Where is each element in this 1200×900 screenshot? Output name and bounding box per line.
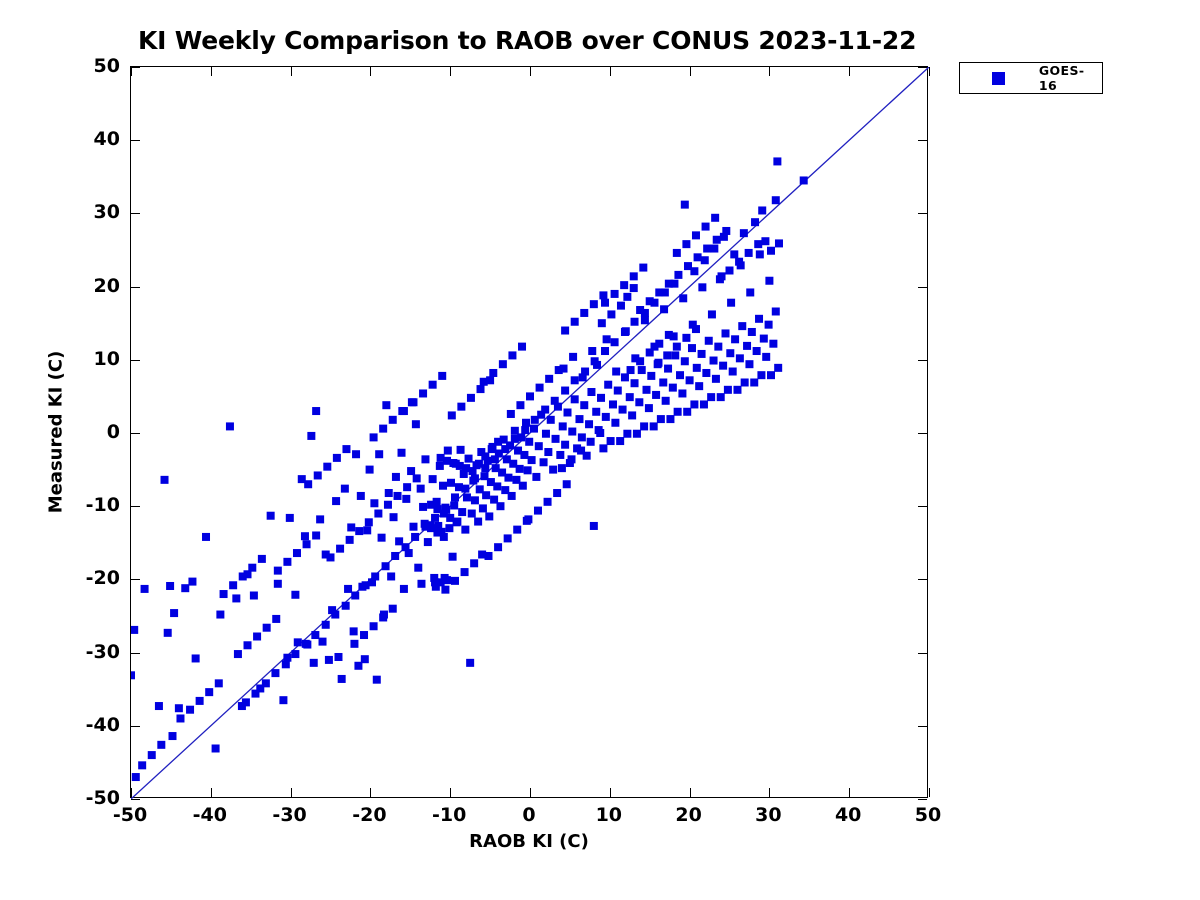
data-point <box>491 455 499 463</box>
data-point <box>441 586 449 594</box>
y-tick-mark <box>131 653 140 654</box>
plot-area <box>130 66 928 798</box>
data-point <box>479 504 487 512</box>
data-point <box>186 706 194 714</box>
identity-line <box>131 67 929 799</box>
data-point <box>373 676 381 684</box>
page-title: KI Weekly Comparison to RAOB over CONUS … <box>138 26 916 55</box>
data-point <box>695 382 703 390</box>
data-point <box>561 441 569 449</box>
data-point <box>450 501 458 509</box>
data-point <box>623 430 631 438</box>
x-axis-title: RAOB KI (C) <box>469 831 589 852</box>
data-point <box>703 245 711 253</box>
data-point <box>536 384 544 392</box>
data-point <box>413 474 421 482</box>
data-point <box>555 366 563 374</box>
data-point <box>662 397 670 405</box>
data-point <box>387 572 395 580</box>
data-point <box>714 343 722 351</box>
data-point <box>741 378 749 386</box>
data-point <box>541 406 549 414</box>
data-point <box>588 347 596 355</box>
data-point <box>307 432 315 440</box>
data-point <box>419 389 427 397</box>
data-point <box>702 223 710 231</box>
data-point <box>424 538 432 546</box>
data-point <box>175 704 183 712</box>
data-point <box>312 407 320 415</box>
data-point <box>660 305 668 313</box>
data-point <box>684 262 692 270</box>
data-point <box>518 343 526 351</box>
data-point <box>755 315 763 323</box>
data-point <box>291 591 299 599</box>
data-point <box>508 492 516 500</box>
data-point <box>226 422 234 430</box>
data-point <box>458 508 466 516</box>
data-point <box>409 523 417 531</box>
data-point <box>612 368 620 376</box>
data-point <box>767 371 775 379</box>
data-point <box>438 372 446 380</box>
data-point <box>633 430 641 438</box>
legend: GOES-16 <box>959 62 1103 94</box>
data-point <box>474 518 482 526</box>
data-point <box>301 532 309 540</box>
data-point <box>626 393 634 401</box>
data-point <box>333 454 341 462</box>
data-point <box>262 679 270 687</box>
data-point <box>419 503 427 511</box>
data-point <box>735 258 743 266</box>
y-tick-mark <box>131 506 140 507</box>
data-point <box>528 456 536 464</box>
data-point <box>242 698 250 706</box>
data-point <box>258 555 266 563</box>
data-point <box>740 229 748 237</box>
y-tick-label: -10 <box>62 494 120 516</box>
data-point <box>726 267 734 275</box>
data-point <box>604 381 612 389</box>
data-point <box>631 379 639 387</box>
data-point <box>590 522 598 530</box>
y-tick-label: 30 <box>62 201 120 223</box>
x-tick-label: 20 <box>675 804 701 826</box>
data-point <box>577 447 585 455</box>
data-point <box>496 502 504 510</box>
data-point <box>229 581 237 589</box>
data-point <box>279 696 287 704</box>
data-point <box>248 564 256 572</box>
data-point <box>645 404 653 412</box>
data-point <box>440 533 448 541</box>
data-point <box>520 451 528 459</box>
data-point <box>713 236 721 244</box>
data-point <box>596 429 604 437</box>
data-point <box>493 482 501 490</box>
data-point <box>552 435 560 443</box>
data-point <box>443 576 451 584</box>
data-point <box>325 656 333 664</box>
data-point <box>681 357 689 365</box>
data-point <box>769 340 777 348</box>
data-point <box>350 640 358 648</box>
data-point <box>650 422 658 430</box>
data-point <box>457 446 465 454</box>
data-point <box>673 249 681 257</box>
data-point <box>234 650 242 658</box>
data-point <box>569 353 577 361</box>
data-point <box>489 369 497 377</box>
data-point <box>772 307 780 315</box>
data-point <box>544 498 552 506</box>
data-point <box>743 342 751 350</box>
y-tick-label: 40 <box>62 128 120 150</box>
data-point <box>587 388 595 396</box>
data-point <box>665 280 673 288</box>
data-point <box>431 514 439 522</box>
data-point <box>384 501 392 509</box>
data-point <box>148 751 156 759</box>
data-point <box>698 350 706 358</box>
data-point <box>722 227 730 235</box>
x-tick-mark <box>690 67 691 76</box>
data-point <box>205 688 213 696</box>
data-point <box>363 526 371 534</box>
data-point <box>722 329 730 337</box>
data-point <box>568 455 576 463</box>
data-point <box>666 415 674 423</box>
data-point <box>525 438 533 446</box>
data-point <box>712 375 720 383</box>
data-point <box>663 351 671 359</box>
x-tick-mark <box>211 67 212 76</box>
data-point <box>283 558 291 566</box>
x-tick-mark <box>849 67 850 76</box>
y-tick-label: -20 <box>62 567 120 589</box>
data-point <box>767 247 775 255</box>
data-point <box>432 583 440 591</box>
data-point <box>617 302 625 310</box>
data-point <box>488 445 496 453</box>
data-point <box>694 253 702 261</box>
data-point <box>294 638 302 646</box>
data-point <box>636 306 644 314</box>
x-tick-label: 0 <box>522 804 535 826</box>
data-point <box>636 357 644 365</box>
data-point <box>686 376 694 384</box>
data-point <box>578 433 586 441</box>
data-point <box>471 474 479 482</box>
data-point <box>157 741 165 749</box>
data-point <box>192 654 200 662</box>
data-point <box>314 471 322 479</box>
x-tick-label: 40 <box>835 804 861 826</box>
x-tick-mark <box>610 67 611 76</box>
plot-canvas <box>131 67 929 799</box>
data-point <box>370 622 378 630</box>
data-point <box>501 445 509 453</box>
x-tick-mark <box>610 788 611 797</box>
data-point <box>166 582 174 590</box>
data-point <box>272 615 280 623</box>
data-point <box>757 371 765 379</box>
y-tick-mark <box>918 287 927 288</box>
data-point <box>705 337 713 345</box>
y-tick-mark <box>131 726 140 727</box>
data-point <box>196 697 204 705</box>
data-point <box>215 679 223 687</box>
x-tick-label: -40 <box>193 804 227 826</box>
data-point <box>702 369 710 377</box>
y-tick-mark <box>131 213 140 214</box>
data-point <box>164 629 172 637</box>
data-point <box>640 422 648 430</box>
data-point <box>370 499 378 507</box>
data-point <box>616 437 624 445</box>
data-point <box>531 416 539 424</box>
data-point <box>365 518 373 526</box>
data-point <box>647 372 655 380</box>
data-point <box>336 545 344 553</box>
data-point <box>621 373 629 381</box>
data-point <box>366 466 374 474</box>
x-tick-mark <box>849 788 850 797</box>
data-point <box>379 613 387 621</box>
data-point <box>597 394 605 402</box>
data-point <box>611 419 619 427</box>
data-point <box>544 448 552 456</box>
y-tick-mark <box>131 67 140 68</box>
data-point <box>327 553 335 561</box>
data-point <box>753 347 761 355</box>
data-point <box>611 290 619 298</box>
data-point <box>429 381 437 389</box>
data-point <box>141 585 149 593</box>
x-tick-label: -10 <box>432 804 466 826</box>
data-point <box>216 611 224 619</box>
data-point <box>494 543 502 551</box>
data-point <box>169 732 177 740</box>
x-tick-mark <box>690 788 691 797</box>
data-point <box>692 325 700 333</box>
data-point <box>453 518 461 526</box>
data-point <box>587 438 595 446</box>
data-point <box>710 245 718 253</box>
x-tick-mark <box>530 67 531 76</box>
data-point <box>601 347 609 355</box>
y-tick-mark <box>918 213 927 214</box>
data-point <box>654 360 662 368</box>
data-point <box>361 655 369 663</box>
data-point <box>468 510 476 518</box>
data-point <box>707 393 715 401</box>
data-point <box>571 376 579 384</box>
data-point <box>451 493 459 501</box>
data-point <box>504 474 512 482</box>
data-point <box>449 553 457 561</box>
data-point <box>551 397 559 405</box>
data-point <box>563 480 571 488</box>
data-point <box>478 551 486 559</box>
data-point <box>635 398 643 406</box>
data-point <box>736 354 744 362</box>
data-point <box>480 378 488 386</box>
data-point <box>389 416 397 424</box>
data-point <box>457 403 465 411</box>
data-point <box>607 437 615 445</box>
data-point <box>590 300 598 308</box>
data-point <box>402 543 410 551</box>
data-point <box>131 626 138 634</box>
data-point <box>508 351 516 359</box>
data-point <box>568 428 576 436</box>
data-point <box>751 218 759 226</box>
data-point <box>316 515 324 523</box>
data-point <box>575 415 583 423</box>
data-point <box>382 562 390 570</box>
data-point <box>436 462 444 470</box>
data-point <box>556 451 564 459</box>
data-point <box>390 513 398 521</box>
data-point <box>232 594 240 602</box>
data-point <box>719 362 727 370</box>
data-point <box>485 512 493 520</box>
data-point <box>513 526 521 534</box>
y-tick-label: -40 <box>62 714 120 736</box>
data-point <box>700 400 708 408</box>
x-tick-label: 50 <box>915 804 941 826</box>
data-point <box>202 533 210 541</box>
y-tick-mark <box>131 287 140 288</box>
data-point <box>239 572 247 580</box>
data-point <box>291 650 299 658</box>
data-point <box>511 435 519 443</box>
data-point <box>263 624 271 632</box>
x-tick-label: 10 <box>596 804 622 826</box>
data-point <box>385 489 393 497</box>
legend-label-goes16: GOES-16 <box>1039 63 1102 93</box>
data-point <box>756 250 764 258</box>
scatter-plot-figure: KI Weekly Comparison to RAOB over CONUS … <box>0 0 1200 900</box>
data-point <box>598 319 606 327</box>
data-point <box>344 585 352 593</box>
data-point <box>693 364 701 372</box>
data-point <box>630 272 638 280</box>
y-tick-label: 20 <box>62 275 120 297</box>
x-tick-mark <box>450 67 451 76</box>
x-tick-mark <box>370 67 371 76</box>
x-tick-mark <box>291 67 292 76</box>
y-tick-label: 10 <box>62 348 120 370</box>
data-point <box>571 395 579 403</box>
y-tick-label: -30 <box>62 641 120 663</box>
data-point <box>516 401 524 409</box>
x-tick-mark <box>929 67 930 76</box>
data-point <box>678 389 686 397</box>
data-point <box>674 271 682 279</box>
data-point <box>655 288 663 296</box>
data-point <box>671 351 679 359</box>
data-point <box>599 444 607 452</box>
data-point <box>526 392 534 400</box>
data-point <box>564 409 572 417</box>
data-point <box>477 385 485 393</box>
data-point <box>444 447 452 455</box>
x-tick-mark <box>291 788 292 797</box>
y-tick-mark <box>131 433 140 434</box>
y-tick-mark <box>131 360 140 361</box>
data-point <box>746 288 754 296</box>
data-point <box>445 524 453 532</box>
data-point <box>765 277 773 285</box>
data-point <box>701 256 709 264</box>
data-point <box>748 328 756 336</box>
data-point <box>375 450 383 458</box>
data-point <box>389 605 397 613</box>
y-tick-label: -50 <box>62 787 120 809</box>
data-point <box>408 398 416 406</box>
data-point <box>469 467 477 475</box>
data-point <box>673 343 681 351</box>
data-point <box>466 659 474 667</box>
data-point <box>708 310 716 318</box>
data-point <box>765 321 773 329</box>
data-point <box>711 214 719 222</box>
data-point <box>530 425 538 433</box>
data-point <box>683 408 691 416</box>
data-point <box>717 393 725 401</box>
data-point <box>499 360 507 368</box>
data-point <box>585 420 593 428</box>
data-point <box>729 368 737 376</box>
y-tick-mark <box>918 360 927 361</box>
x-tick-mark <box>211 788 212 797</box>
data-point <box>355 527 363 535</box>
data-point <box>681 201 689 209</box>
legend-swatch-goes16 <box>992 72 1005 85</box>
data-point <box>392 473 400 481</box>
data-point <box>467 394 475 402</box>
data-point <box>773 157 781 165</box>
x-tick-label: 30 <box>755 804 781 826</box>
data-point <box>346 536 354 544</box>
data-point <box>312 531 320 539</box>
data-point <box>609 400 617 408</box>
data-point <box>407 467 415 475</box>
data-point <box>481 452 489 460</box>
data-point <box>561 327 569 335</box>
data-point <box>772 196 780 204</box>
data-point <box>439 482 447 490</box>
data-point <box>463 493 471 501</box>
data-point <box>253 633 261 641</box>
data-point <box>379 425 387 433</box>
data-point <box>607 310 615 318</box>
data-point <box>545 375 553 383</box>
data-point <box>402 495 410 503</box>
data-point <box>403 483 411 491</box>
data-point <box>731 335 739 343</box>
data-point <box>351 592 359 600</box>
data-point <box>338 675 346 683</box>
data-point <box>679 294 687 302</box>
data-point <box>138 761 146 769</box>
data-point <box>601 299 609 307</box>
data-point <box>394 492 402 500</box>
data-point <box>547 416 555 424</box>
